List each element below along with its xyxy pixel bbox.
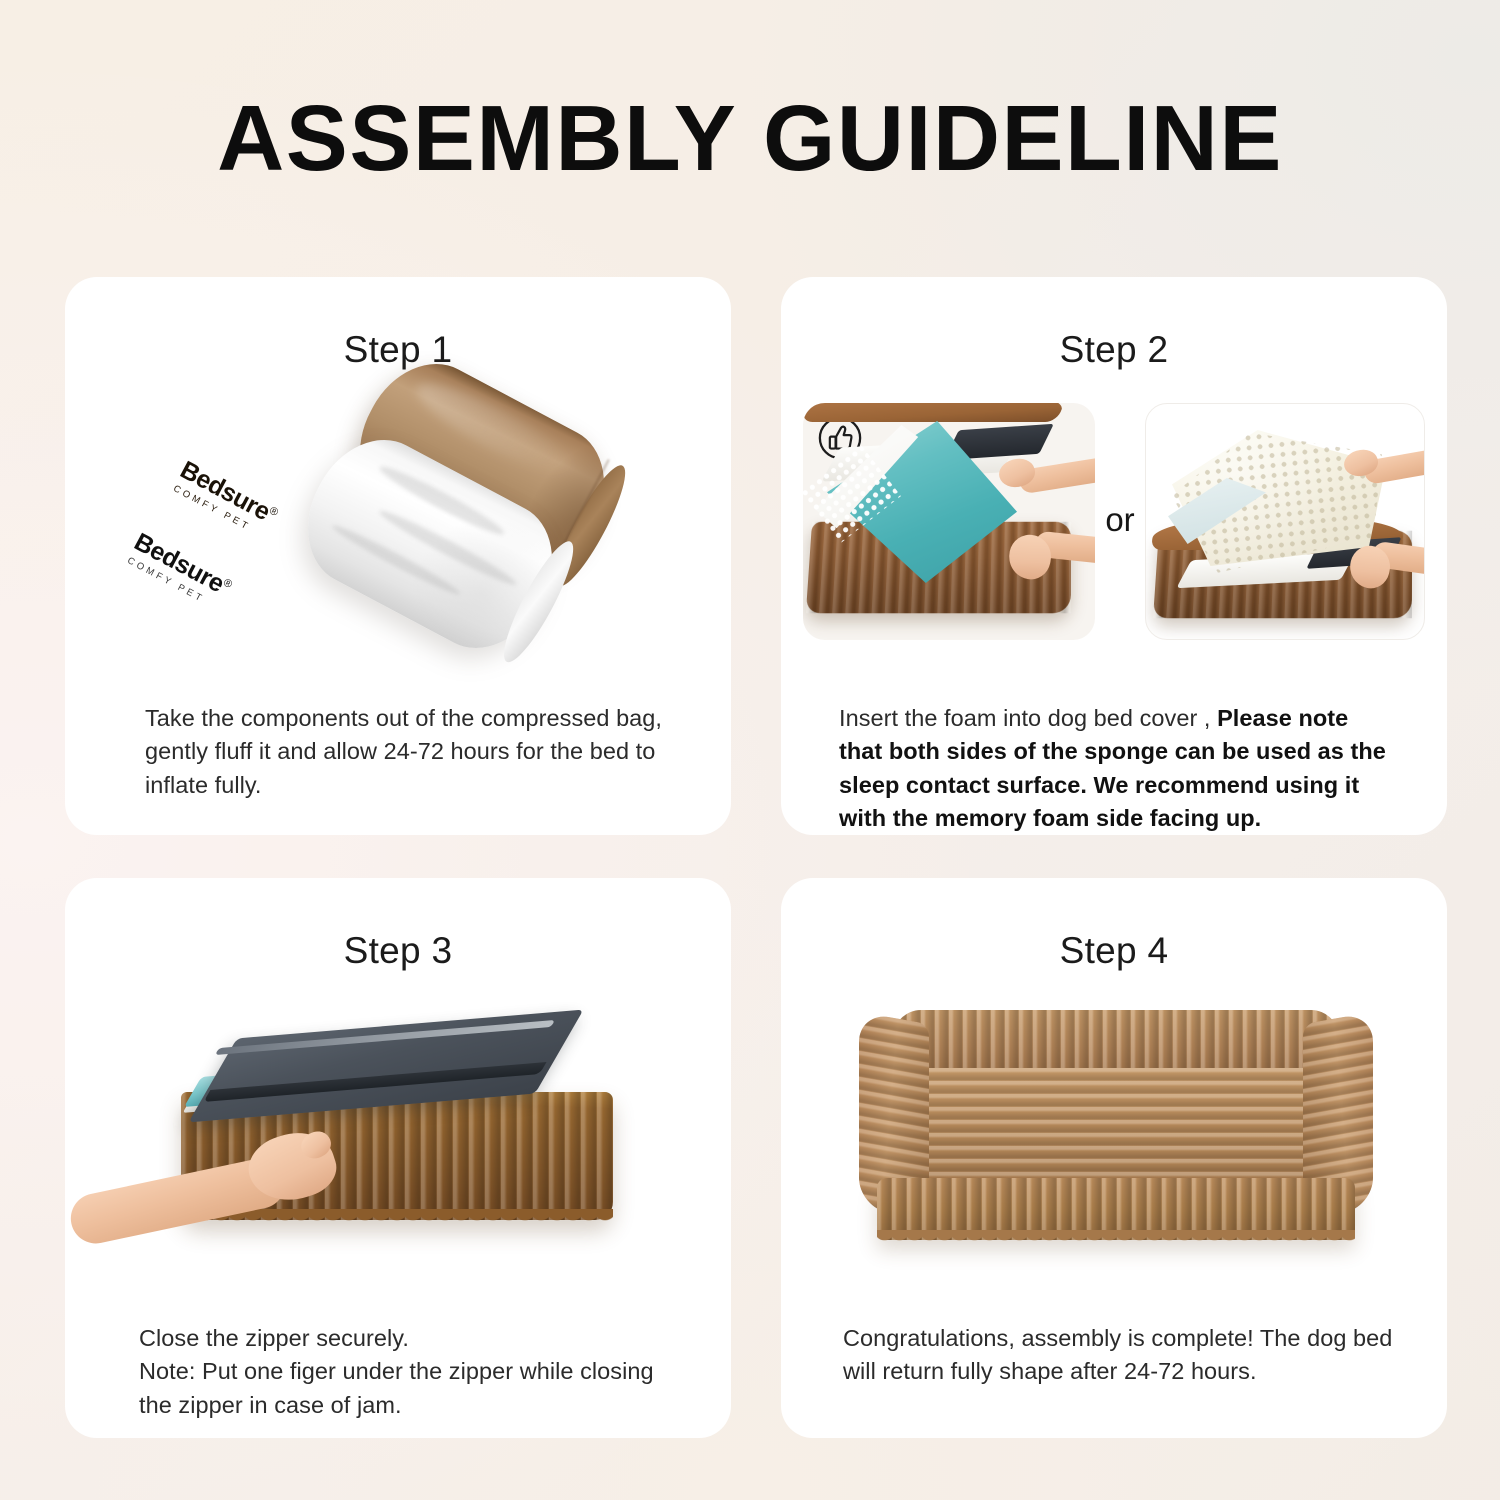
step-4-caption: Congratulations, assembly is complete! T… — [843, 1322, 1399, 1389]
bag-wrinkle — [376, 505, 519, 590]
step-2-caption-regular: Insert the foam into dog bed cover , — [839, 705, 1217, 731]
step-card-3: Step 3 Close the zipper securely. Note: … — [65, 878, 731, 1438]
bed-bolster-rim — [803, 403, 1068, 422]
bed-back-bolster — [893, 1010, 1339, 1076]
step-1-heading: Step 1 — [65, 329, 731, 371]
bag-wrinkle — [329, 521, 463, 600]
brand-label-brown: Bedsure® COMFY PET — [170, 456, 282, 541]
step-2-panel-memory-foam — [803, 403, 1095, 640]
step-3-caption: Close the zipper securely. Note: Put one… — [139, 1322, 679, 1422]
step-2-heading: Step 2 — [781, 329, 1447, 371]
bed-scalloped-bottom — [181, 1209, 613, 1231]
step-3-caption-line-1: Close the zipper securely. — [139, 1322, 679, 1355]
roll-end-cap — [493, 535, 583, 669]
brand-label-white: Bedsure® COMFY PET — [124, 528, 236, 613]
step-1-caption: Take the components out of the compresse… — [145, 702, 675, 802]
step-2-illustration: or — [781, 403, 1447, 653]
step-card-2: Step 2 — [781, 277, 1447, 835]
corduroy-texture — [917, 1068, 1317, 1190]
step-card-4: Step 4 Congratulations, assembly is comp… — [781, 878, 1447, 1438]
step-3-caption-line-2: Note: Put one figer under the zipper whi… — [139, 1355, 679, 1422]
bed-scalloped-bottom — [877, 1230, 1355, 1250]
step-4-illustration — [781, 988, 1447, 1318]
bed-sleeping-surface — [917, 1068, 1317, 1190]
step-3-illustration — [65, 1000, 731, 1300]
or-divider-label: or — [1097, 501, 1143, 539]
step-2-panel-egg-crate — [1145, 403, 1425, 640]
step-3-heading: Step 3 — [65, 930, 731, 972]
step-1-illustration: Bedsure® COMFY PET Bedsure® COMFY PET — [65, 382, 731, 682]
corduroy-texture — [893, 1010, 1339, 1076]
step-card-1: Step 1 Bedsure® COMFY PET Bedsure® COMFY… — [65, 277, 731, 835]
page-title: ASSEMBLY GUIDELINE — [0, 88, 1500, 188]
step-2-caption: Insert the foam into dog bed cover , Ple… — [839, 702, 1391, 835]
bed-front-panel — [877, 1178, 1355, 1240]
step-4-heading: Step 4 — [781, 930, 1447, 972]
assembly-guideline-page: ASSEMBLY GUIDELINE Step 1 Bedsure® COMFY… — [0, 0, 1500, 1500]
